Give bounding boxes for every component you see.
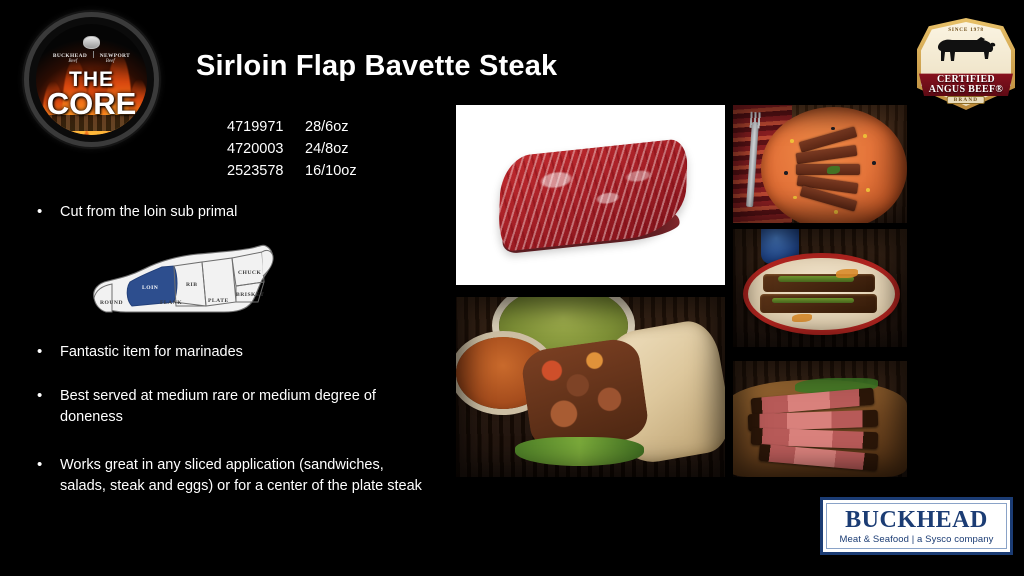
core-logo-core: CORE — [36, 86, 147, 122]
core-logo-inner: BUCKHEAD NEWPORT Beef Beef THE CORE — [36, 24, 147, 135]
cut-label-brisket: BRISKET — [236, 292, 264, 298]
cut-label-round: ROUND — [100, 300, 123, 306]
slide-canvas: BUCKHEAD NEWPORT Beef Beef THE CORE Sirl… — [0, 0, 1024, 576]
cab-since-text: SINCE 1978 — [917, 27, 1015, 33]
wooden-board — [733, 380, 907, 477]
the-core-logo: BUCKHEAD NEWPORT Beef Beef THE CORE — [24, 12, 159, 147]
core-logo-subbrands: Beef Beef — [36, 59, 147, 64]
core-sub-right: Beef — [106, 59, 115, 64]
product-code-row: 252357816/10oz — [227, 160, 357, 182]
buckhead-name: BUCKHEAD — [845, 507, 988, 533]
brand-divider — [93, 51, 94, 58]
product-code-row: 471997128/6oz — [227, 116, 357, 138]
bullet-item: Cut from the loin sub primal — [30, 202, 430, 223]
product-pack: 28/6oz — [305, 119, 349, 135]
product-code: 4719971 — [227, 116, 305, 138]
buckhead-tagline: Meat & Seafood | a Sysco company — [839, 534, 993, 545]
beef-cut-diagram: ROUND LOIN FLANK RIB PLATE CHUCK BRISKET — [86, 236, 282, 328]
angus-cow-icon — [933, 35, 999, 69]
product-code: 4720003 — [227, 138, 305, 160]
product-photo-steak-wrap — [456, 297, 725, 477]
wrap-filling — [519, 336, 650, 452]
product-photo-grilled-steak — [733, 229, 907, 347]
core-sub-left: Beef — [68, 59, 77, 64]
cut-label-flank: FLANK — [160, 300, 182, 306]
bullet-item: Best served at medium rare or medium deg… — [30, 386, 430, 428]
product-code-row: 472000324/8oz — [227, 138, 357, 160]
oval-platter — [743, 253, 900, 336]
core-logo-brands: BUCKHEAD NEWPORT — [36, 51, 147, 59]
product-photo-plated-steak — [733, 105, 907, 223]
product-photo-raw-steak — [456, 105, 725, 285]
cut-label-plate: PLATE — [208, 298, 229, 304]
page-title: Sirloin Flap Bavette Steak — [196, 50, 557, 83]
product-code-list: 471997128/6oz 472000324/8oz 252357816/10… — [227, 116, 357, 182]
product-pack: 16/10oz — [305, 163, 357, 179]
product-photo-sliced-board — [733, 361, 907, 477]
cab-brand-text: BRAND — [947, 96, 985, 104]
buckhead-logo: BUCKHEAD Meat & Seafood | a Sysco compan… — [820, 497, 1013, 555]
certified-angus-beef-logo: SINCE 1978 CERTIFIED ANGUS BEEF® BRAND — [917, 18, 1015, 110]
cut-label-loin: LOIN — [142, 285, 158, 291]
bullet-item: Works great in any sliced application (s… — [30, 455, 430, 497]
cut-label-chuck: CHUCK — [238, 270, 261, 276]
buckhead-logo-inner: BUCKHEAD Meat & Seafood | a Sysco compan… — [826, 503, 1007, 549]
product-pack: 24/8oz — [305, 141, 349, 157]
cut-label-rib: RIB — [186, 282, 197, 288]
cab-line2: ANGUS BEEF® — [917, 84, 1015, 95]
bullet-item: Fantastic item for marinades — [30, 342, 430, 363]
product-code: 2523578 — [227, 160, 305, 182]
terracotta-plate — [761, 107, 907, 223]
